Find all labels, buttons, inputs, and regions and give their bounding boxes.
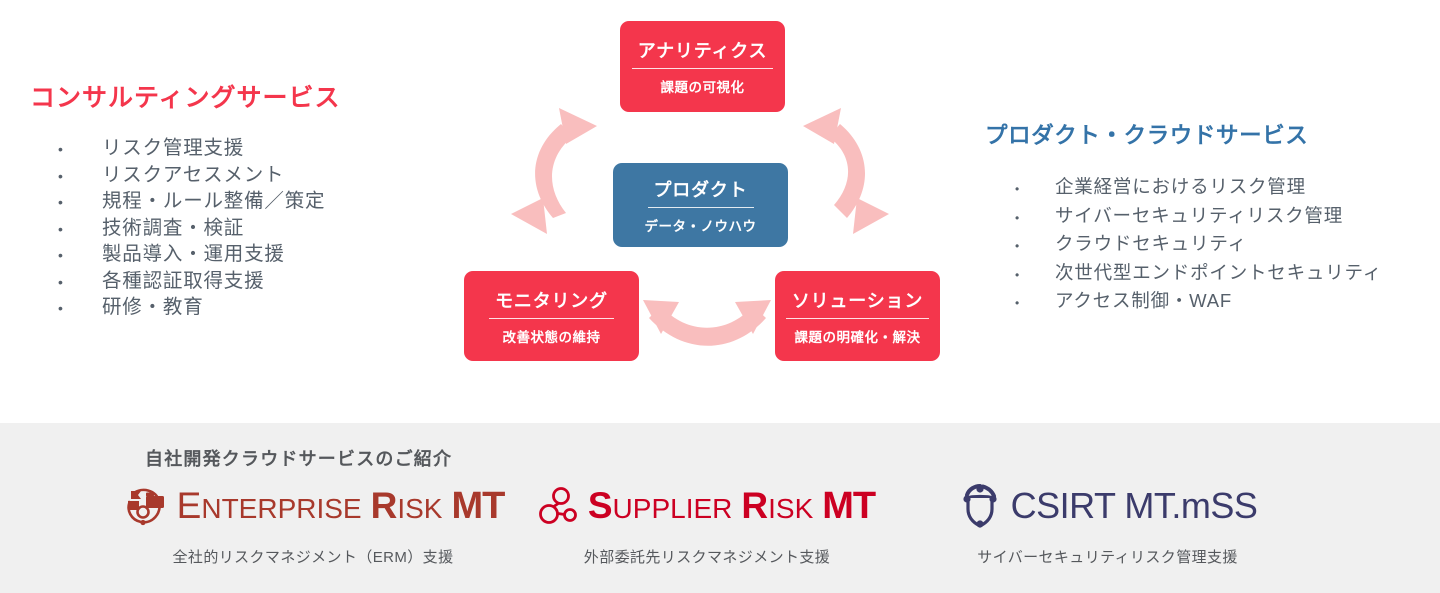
- list-item: • 各種認証取得支援: [58, 269, 430, 296]
- wordmark-part: E: [177, 487, 202, 524]
- bullet-icon: •: [58, 164, 102, 190]
- product-cloud-services-heading: プロダクト・クラウドサービス: [985, 118, 1440, 150]
- logo-wordmark: CSIRT MT.mSS: [1011, 488, 1258, 524]
- logo-row: ENTERPRISE RISK MT 全社的リスクマネジメント（ERM）支援: [0, 478, 1440, 588]
- wordmark-part: R: [741, 487, 768, 524]
- list-item: • サイバーセキュリティリスク管理: [1015, 203, 1440, 232]
- logo-supplier-risk-mt[interactable]: SUPPLIER RISK MT 外部委託先リスクマネジメント支援: [512, 478, 902, 567]
- list-item-label: クラウドセキュリティ: [1055, 231, 1247, 257]
- list-item-label: 各種認証取得支援: [102, 269, 264, 295]
- list-item-label: 次世代型エンドポイントセキュリティ: [1055, 260, 1382, 286]
- cycle-node-solution[interactable]: ソリューション 課題の明確化・解決: [775, 271, 940, 361]
- list-item-label: 企業経営におけるリスク管理: [1055, 174, 1306, 200]
- list-item: • リスクアセスメント: [58, 163, 430, 190]
- consulting-services-section: コンサルティングサービス • リスク管理支援 • リスクアセスメント • 規程・…: [0, 78, 430, 322]
- list-item-label: サイバーセキュリティリスク管理: [1055, 203, 1343, 229]
- logo-caption: 全社的リスクマネジメント（ERM）支援: [118, 546, 508, 567]
- cycle-diagram: アナリティクス 課題の可視化 プロダクト データ・ノウハウ モニタリング 改善状…: [455, 0, 955, 385]
- bullet-icon: •: [1015, 291, 1055, 317]
- list-item-label: リスク管理支援: [102, 136, 244, 162]
- bullet-icon: •: [58, 243, 102, 269]
- wordmark-part: ISK: [768, 495, 813, 523]
- cycle-node-subtitle: データ・ノウハウ: [645, 215, 757, 235]
- bullet-icon: •: [58, 137, 102, 163]
- bullet-icon: •: [1015, 206, 1055, 232]
- product-cloud-services-list: • 企業経営におけるリスク管理 • サイバーセキュリティリスク管理 • クラウド…: [985, 174, 1440, 317]
- bullet-icon: •: [58, 296, 102, 322]
- globe-folder-icon: [122, 484, 168, 528]
- bullet-icon: •: [58, 217, 102, 243]
- wordmark-part: MT: [822, 487, 875, 525]
- wordmark-part: CSIRT MT.mSS: [1011, 488, 1258, 524]
- logo-wordmark: SUPPLIER RISK MT: [588, 487, 875, 525]
- list-item-label: 規程・ルール整備／策定: [102, 189, 325, 215]
- bullet-icon: •: [58, 270, 102, 296]
- cycle-node-subtitle: 課題の可視化: [661, 76, 745, 96]
- logo-wordmark: ENTERPRISE RISK MT: [177, 487, 505, 525]
- consulting-services-list: • リスク管理支援 • リスクアセスメント • 規程・ルール整備／策定 • 技術…: [0, 136, 430, 322]
- list-item: • 企業経営におけるリスク管理: [1015, 174, 1440, 203]
- list-item: • クラウドセキュリティ: [1015, 231, 1440, 260]
- list-item: • 規程・ルール整備／策定: [58, 189, 430, 216]
- list-item: • 製品導入・運用支援: [58, 242, 430, 269]
- list-item-label: 技術調査・検証: [102, 216, 244, 242]
- footer-title: 自社開発クラウドサービスのご紹介: [145, 445, 452, 471]
- list-item-label: アクセス制御・WAF: [1055, 288, 1232, 314]
- logo-caption: 外部委託先リスクマネジメント支援: [512, 546, 902, 567]
- cycle-node-product[interactable]: プロダクト データ・ノウハウ: [613, 163, 788, 247]
- cycle-node-monitoring[interactable]: モニタリング 改善状態の維持: [464, 271, 639, 361]
- list-item: • 次世代型エンドポイントセキュリティ: [1015, 260, 1440, 289]
- wordmark-part: ISK: [397, 495, 442, 523]
- cycle-node-title: アナリティクス: [632, 37, 774, 69]
- cycle-node-subtitle: 改善状態の維持: [503, 326, 601, 346]
- list-item-label: 製品導入・運用支援: [102, 242, 285, 268]
- bullet-icon: •: [1015, 234, 1055, 260]
- product-cloud-services-section: プロダクト・クラウドサービス • 企業経営におけるリスク管理 • サイバーセキュ…: [985, 118, 1440, 317]
- logo-enterprise-risk-mt[interactable]: ENTERPRISE RISK MT 全社的リスクマネジメント（ERM）支援: [118, 478, 508, 567]
- bullet-icon: •: [1015, 263, 1055, 289]
- bullet-icon: •: [1015, 177, 1055, 203]
- bullet-icon: •: [58, 190, 102, 216]
- bottom-arrow: [643, 300, 771, 346]
- logo-mark-row: SUPPLIER RISK MT: [512, 478, 902, 534]
- wordmark-part: NTERPRISE: [201, 495, 361, 523]
- list-item: • 技術調査・検証: [58, 216, 430, 243]
- cycle-node-analytics[interactable]: アナリティクス 課題の可視化: [620, 21, 785, 112]
- wordmark-part: S: [588, 487, 613, 524]
- shield-nodes-icon: [958, 483, 1002, 529]
- list-item-label: 研修・教育: [102, 295, 204, 321]
- network-nodes-icon: [539, 485, 579, 527]
- slide-root: コンサルティングサービス • リスク管理支援 • リスクアセスメント • 規程・…: [0, 0, 1440, 593]
- wordmark-part: MT: [451, 487, 504, 525]
- left-arrow: [511, 108, 597, 234]
- logo-mark-row: CSIRT MT.mSS: [895, 478, 1320, 534]
- consulting-services-heading: コンサルティングサービス: [0, 78, 430, 114]
- cycle-node-title: モニタリング: [489, 287, 614, 319]
- logo-mark-row: ENTERPRISE RISK MT: [118, 478, 508, 534]
- list-item: • 研修・教育: [58, 295, 430, 322]
- cycle-node-title: ソリューション: [786, 287, 929, 319]
- cycle-node-subtitle: 課題の明確化・解決: [795, 326, 921, 346]
- wordmark-part: UPPLIER: [613, 495, 733, 523]
- logo-csirt-mt-mss[interactable]: CSIRT MT.mSS サイバーセキュリティリスク管理支援: [895, 478, 1320, 567]
- list-item: • アクセス制御・WAF: [1015, 288, 1440, 317]
- list-item: • リスク管理支援: [58, 136, 430, 163]
- right-arrow: [803, 108, 889, 234]
- cycle-node-title: プロダクト: [648, 176, 754, 208]
- list-item-label: リスクアセスメント: [102, 163, 284, 189]
- footer-cloud-services: 自社開発クラウドサービスのご紹介: [0, 423, 1440, 593]
- wordmark-part: R: [371, 487, 398, 524]
- logo-caption: サイバーセキュリティリスク管理支援: [895, 546, 1320, 567]
